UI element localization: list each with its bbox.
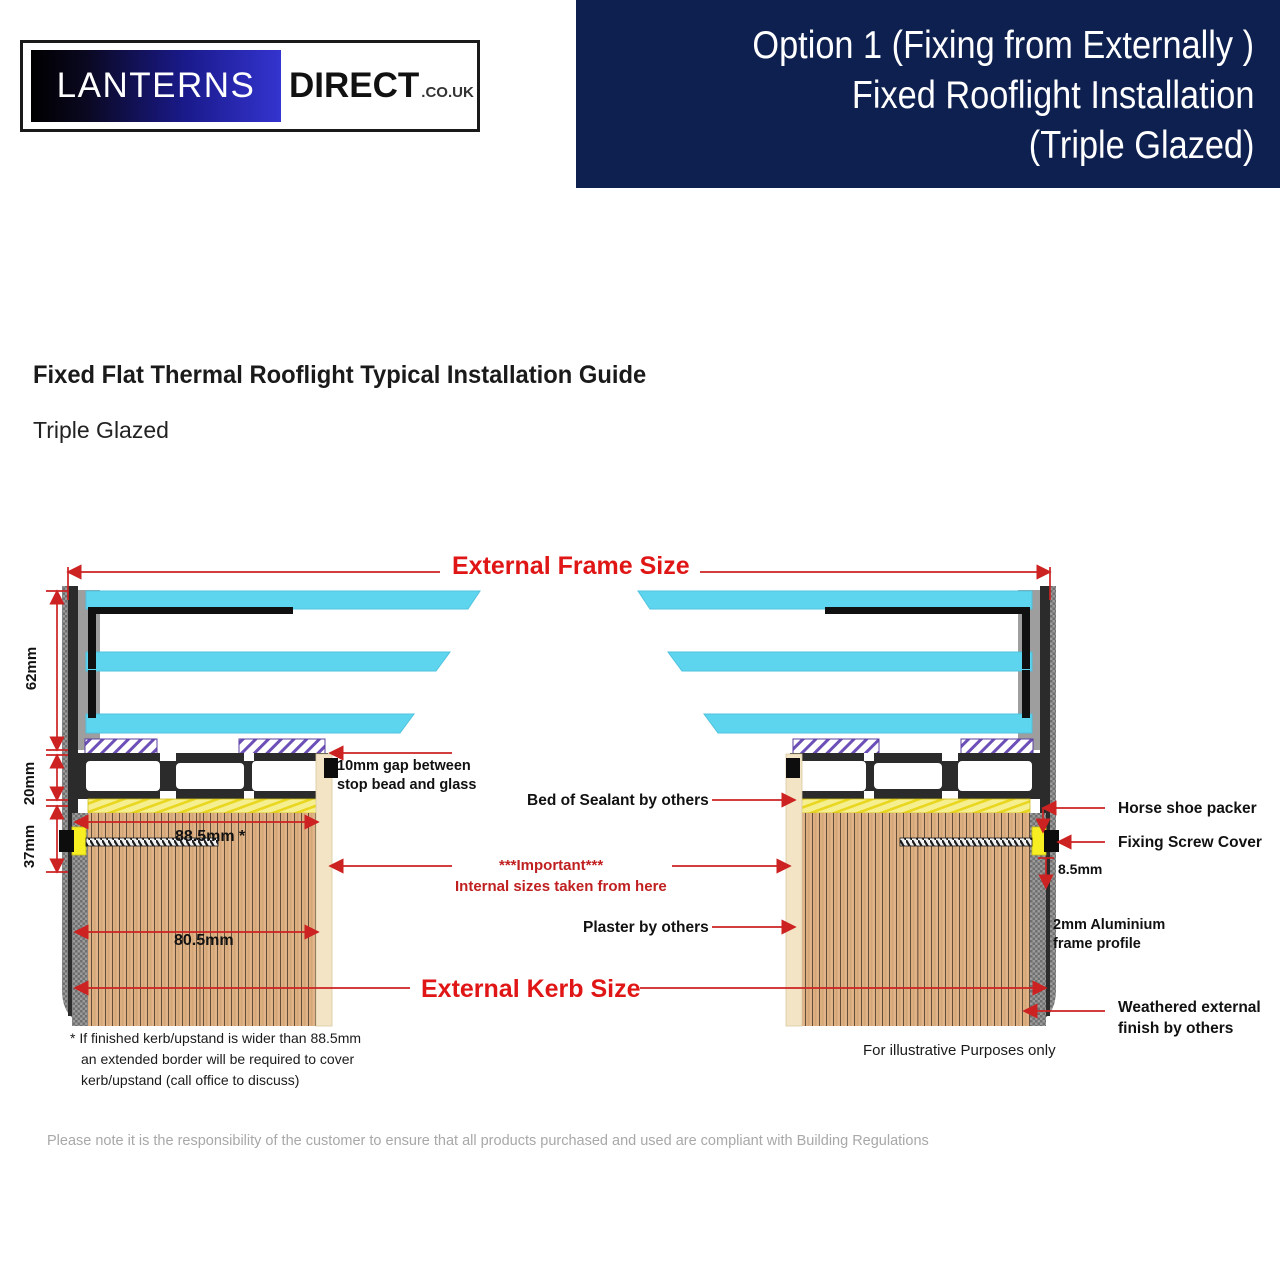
bed-of-sealant-left: [88, 799, 324, 813]
dim-label-62mm: 62mm: [23, 647, 40, 690]
left-half-section: [59, 586, 480, 1026]
fixing-screw-cover-left: [59, 830, 74, 852]
illustrative-note: For illustrative Purposes only: [863, 1042, 1056, 1059]
glass-pane-outer-right: [638, 591, 1032, 609]
glass-pane-inner-left: [86, 714, 414, 733]
stop-bead-outer-left: [85, 739, 157, 754]
frame-notch-b-left: [160, 791, 176, 799]
plaster-layer-left: [316, 754, 332, 1026]
glass-pane-middle-left: [86, 652, 450, 671]
frame-chamber-outer-left: [86, 761, 160, 791]
external-frame-size-label: External Frame Size: [452, 552, 690, 581]
callout-alu-profile-line2: frame profile: [1053, 935, 1141, 954]
building-regulations-disclaimer: Please note it is the responsibility of …: [47, 1133, 929, 1149]
dim-label-80-5mm: 80.5mm: [174, 932, 234, 950]
dim-label-8-5mm: 8.5mm: [1058, 861, 1102, 877]
frame-notch-b-right: [942, 791, 958, 799]
kerb-footnote-line3: kerb/upstand (call office to discuss): [81, 1070, 361, 1091]
important-note: Internal sizes taken from here: [455, 878, 667, 895]
stop-bead-outer-right: [961, 739, 1033, 754]
external-kerb-size-label: External Kerb Size: [421, 975, 641, 1004]
stop-bead-gap-block-left: [324, 758, 338, 778]
horse-shoe-packer-left: [72, 827, 86, 855]
spacer-vertical-upper-right: [1022, 609, 1030, 669]
important-heading: ***Important***: [499, 857, 603, 874]
kerb-footnote-line1: * If finished kerb/upstand is wider than…: [70, 1028, 361, 1049]
dim-label-37mm: 37mm: [21, 825, 38, 868]
callout-horse-shoe-packer: Horse shoe packer: [1118, 799, 1257, 818]
spacer-vertical-lower-left: [88, 670, 96, 718]
frame-chamber-inner-left: [252, 761, 324, 791]
kerb-footnote-line2: an extended border will be required to c…: [81, 1049, 361, 1070]
spacer-bar-upper-right: [825, 607, 1030, 614]
frame-notch-d-right: [864, 791, 874, 799]
frame-chamber-mid-right: [874, 763, 942, 789]
frame-notch-a-left: [160, 753, 176, 761]
bed-of-sealant-right: [794, 799, 1030, 813]
frame-notch-c-left: [244, 753, 254, 761]
glass-pane-inner-right: [704, 714, 1032, 733]
callout-plaster: Plaster by others: [583, 918, 709, 937]
frame-notch-d-left: [244, 791, 254, 799]
kerb-footnote: * If finished kerb/upstand is wider than…: [70, 1028, 361, 1091]
callout-gap-line2: stop bead and glass: [337, 776, 476, 795]
callout-weathered-line1: Weathered external: [1118, 998, 1261, 1017]
spacer-vertical-upper-left: [88, 609, 96, 669]
dim-label-88-5mm: 88.5mm *: [175, 828, 245, 846]
callout-weathered-line2: finish by others: [1118, 1019, 1233, 1038]
callout-gap-line1: 10mm gap between: [337, 757, 471, 776]
spacer-bar-upper-left: [88, 607, 293, 614]
frame-chamber-inner-right: [794, 761, 866, 791]
callout-fixing-screw-cover: Fixing Screw Cover: [1118, 833, 1262, 852]
stop-bead-inner-left: [239, 739, 325, 754]
fixing-screw-cover-right: [1044, 830, 1059, 852]
glass-pane-middle-right: [668, 652, 1032, 671]
dim-label-20mm: 20mm: [21, 762, 38, 805]
fixing-screw-right: [900, 838, 1032, 846]
frame-notch-a-right: [942, 753, 958, 761]
horse-shoe-packer-right: [1032, 827, 1046, 855]
frame-chamber-mid-left: [176, 763, 244, 789]
spacer-vertical-lower-right: [1022, 670, 1030, 718]
callout-alu-profile-line1: 2mm Aluminium: [1053, 916, 1165, 935]
stop-bead-inner-right: [793, 739, 879, 754]
stop-bead-gap-block-right: [786, 758, 800, 778]
callout-bed-of-sealant: Bed of Sealant by others: [527, 791, 709, 810]
plaster-layer-right: [786, 754, 802, 1026]
frame-notch-c-right: [864, 753, 874, 761]
glass-pane-outer-left: [86, 591, 480, 609]
frame-chamber-outer-right: [958, 761, 1032, 791]
